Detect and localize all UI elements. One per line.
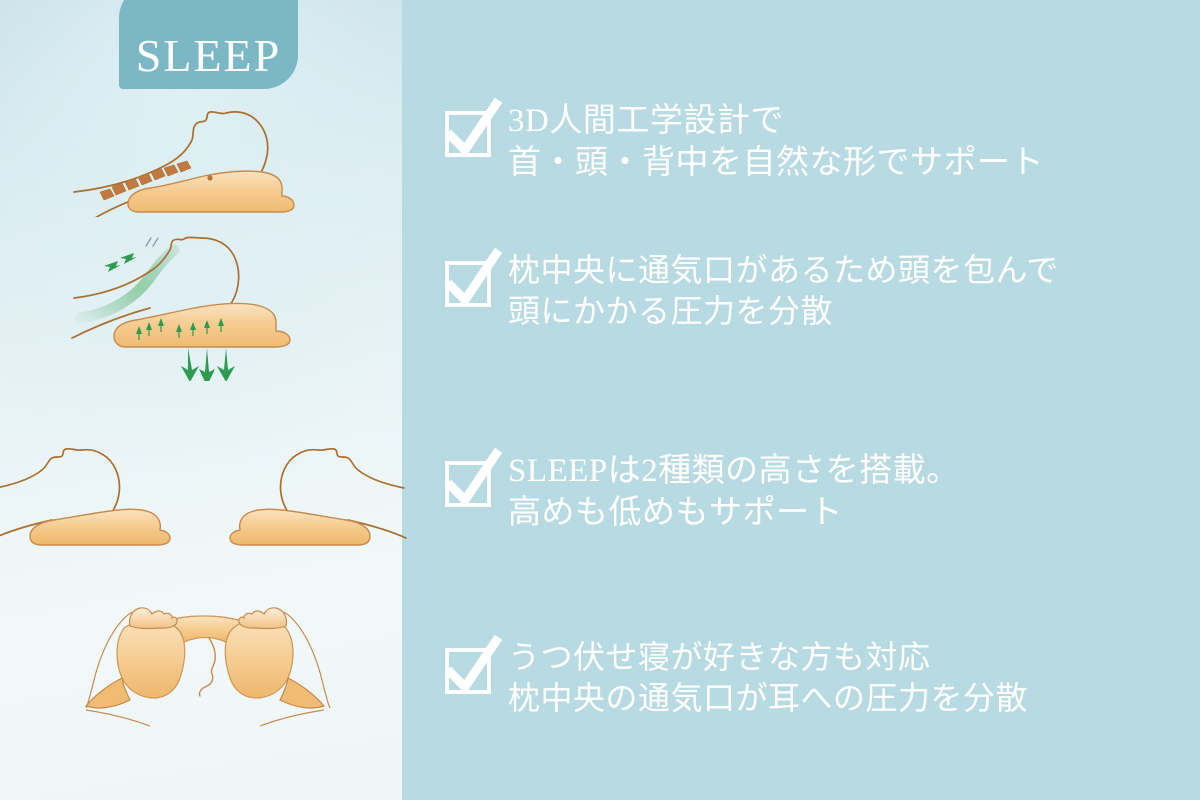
checkbox-checked-icon <box>444 456 496 508</box>
feature-item: 3D人間工学設計で 首・頭・背中を自然な形でサポート <box>444 100 1044 184</box>
feature-item: うつ伏せ寝が好きな方も対応 枕中央の通気口が耳への圧力を分散 <box>444 637 1028 719</box>
checkbox-checked-icon <box>444 106 496 158</box>
feature-line: 高めも低めもサポート <box>508 492 960 534</box>
checkbox-checked-icon <box>444 256 496 308</box>
supine-sleeper-with-spine-illustration <box>70 92 350 217</box>
two-pillow-heights-illustration <box>0 430 410 570</box>
feature-text: SLEEPは2種類の高さを搭載。 高めも低めもサポート <box>508 450 960 534</box>
checkbox-checked-icon <box>444 643 496 695</box>
feature-text: 枕中央に通気口があるため頭を包んで 頭にかかる圧力を分散 <box>508 250 1059 332</box>
feature-line: 首・頭・背中を自然な形でサポート <box>508 142 1044 184</box>
feature-item: SLEEPは2種類の高さを搭載。 高めも低めもサポート <box>444 450 960 534</box>
feature-text: うつ伏せ寝が好きな方も対応 枕中央の通気口が耳への圧力を分散 <box>508 637 1028 719</box>
feature-item: 枕中央に通気口があるため頭を包んで 頭にかかる圧力を分散 <box>444 250 1059 332</box>
airflow-ventilation-illustration <box>70 236 350 381</box>
prone-sleeper-top-view-illustration <box>72 592 342 732</box>
sleep-brand-badge: SLEEP <box>119 0 298 89</box>
feature-line: 3D人間工学設計で <box>508 100 1044 142</box>
pillow-feature-poster: SLEEP <box>0 0 1200 800</box>
feature-line: SLEEPは2種類の高さを搭載。 <box>508 450 960 492</box>
feature-line: 頭にかかる圧力を分散 <box>508 291 1059 332</box>
feature-line: 枕中央の通気口が耳への圧力を分散 <box>508 678 1028 719</box>
feature-line: うつ伏せ寝が好きな方も対応 <box>508 637 1028 678</box>
feature-line: 枕中央に通気口があるため頭を包んで <box>508 250 1059 291</box>
feature-text: 3D人間工学設計で 首・頭・背中を自然な形でサポート <box>508 100 1044 184</box>
feature-list: 3D人間工学設計で 首・頭・背中を自然な形でサポート 枕中央に通気口があるため頭… <box>402 0 1200 800</box>
sleep-brand-label: SLEEP <box>136 33 281 79</box>
